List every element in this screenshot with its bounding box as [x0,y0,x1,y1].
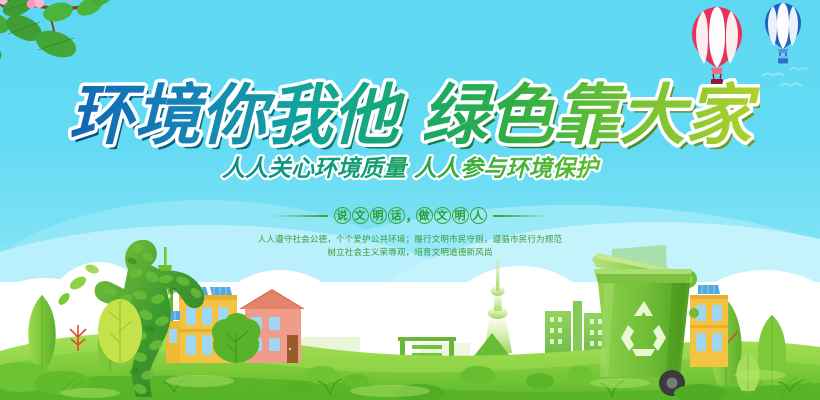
slogan-char: 人 [470,207,487,224]
slogan-char: 文 [434,207,451,224]
slogan-row: 说 文 明 话 ， 做 文 明 人 [0,207,820,224]
blossom-3 [60,0,74,2]
subtitle: 人人关心环境质量 人人参与环境保护 人人关心环境质量 人人参与环境保护 [175,152,645,184]
main-title: 环境你我他 绿色靠大家 环境你我他 绿色靠大家 环境你我他 绿色靠大家 [60,78,760,156]
main-title-text: 环境你我他 绿色靠大家 [69,78,760,154]
eco-poster: 环境你我他 绿色靠大家 环境你我他 绿色靠大家 环境你我他 绿色靠大家 人人关心… [0,0,820,400]
slogan-rule-left [272,215,328,217]
floating-leaf [84,263,100,275]
slogan-rule-right [493,215,549,217]
solar-panels-right [698,285,720,294]
slogan-char: 明 [452,207,469,224]
yellow-house-right [689,285,728,367]
floating-leaf [56,291,71,307]
subtitle-text: 人人关心环境质量 人人参与环境保护 [222,156,601,182]
leaf-branch-icon [0,0,139,76]
slogan-separator: ， [406,209,415,226]
headline-block: 环境你我他 绿色靠大家 环境你我他 绿色靠大家 环境你我他 绿色靠大家 人人关心… [0,78,820,184]
blue-hot-air-balloon-icon [762,2,804,68]
slogan-char: 话 [388,207,405,224]
floating-leaf [68,274,89,292]
scenery-illustration [0,225,820,400]
slogan-char: 明 [370,207,387,224]
slogan-char: 文 [352,207,369,224]
slogan-char: 说 [334,207,351,224]
slogan-characters: 说 文 明 话 ， 做 文 明 人 [334,207,487,224]
